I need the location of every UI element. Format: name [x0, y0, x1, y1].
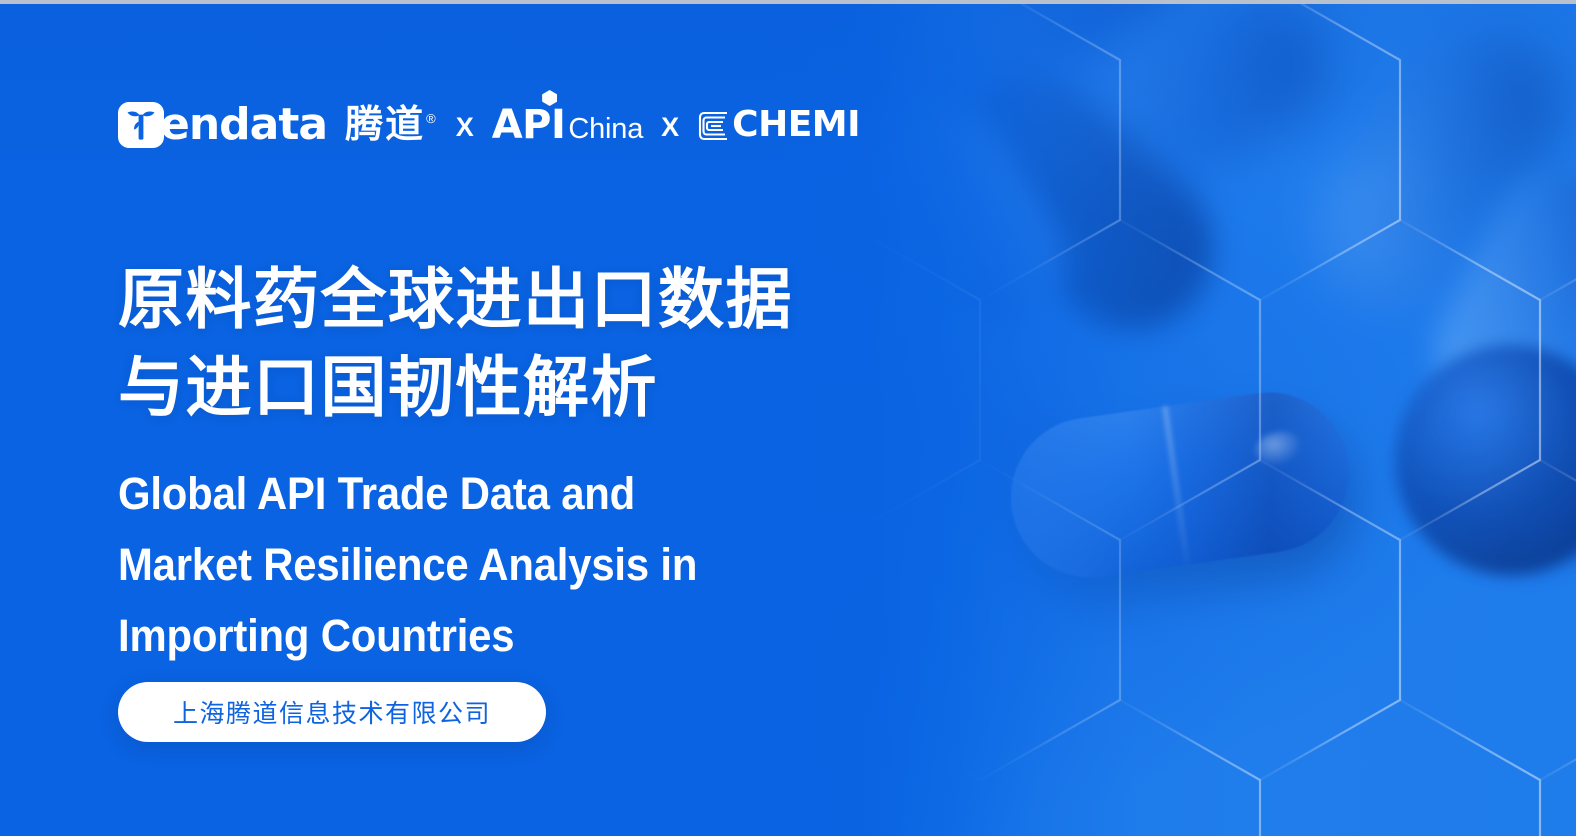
- echemi-wordmark: CHEMI: [732, 107, 860, 143]
- echemi-fingerprint-e-icon: [697, 109, 731, 143]
- title-cn-line-1: 原料药全球进出口数据: [118, 256, 793, 344]
- company-name-label: 上海腾道信息技术有限公司: [173, 694, 491, 730]
- page-title-chinese: 原料药全球进出口数据 与进口国韧性解析: [118, 256, 793, 432]
- title-en-line-3: Importing Countries: [118, 601, 825, 672]
- content-column: endata 腾道® X API China X: [118, 0, 1018, 836]
- echemi-logo[interactable]: CHEMI: [697, 107, 860, 143]
- tendata-logo[interactable]: endata 腾道®: [118, 102, 438, 148]
- logo-row: endata 腾道® X API China X: [118, 96, 860, 154]
- company-name-badge: 上海腾道信息技术有限公司: [118, 682, 546, 742]
- capsule-sphere: [1395, 345, 1576, 575]
- apichina-bold-text: API: [492, 105, 566, 145]
- top-strip: [0, 0, 1576, 4]
- tendata-wordmark: endata: [160, 103, 327, 147]
- title-cn-line-2: 与进口国韧性解析: [118, 344, 793, 432]
- apichina-light-text: China: [568, 115, 643, 144]
- title-en-line-2: Market Resilience Analysis in: [118, 530, 825, 601]
- page-subtitle-english: Global API Trade Data and Market Resilie…: [118, 459, 825, 671]
- tendata-chinese-name: 腾道®: [345, 106, 438, 144]
- banner-slide: endata 腾道® X API China X: [0, 0, 1576, 836]
- title-en-line-1: Global API Trade Data and: [118, 459, 825, 530]
- tendata-sprout-t-icon: [118, 102, 164, 148]
- logo-separator-1: X: [456, 114, 474, 141]
- logo-separator-2: X: [661, 114, 679, 141]
- apichina-logo[interactable]: API China: [492, 105, 643, 145]
- registered-trademark-icon: ®: [426, 111, 438, 126]
